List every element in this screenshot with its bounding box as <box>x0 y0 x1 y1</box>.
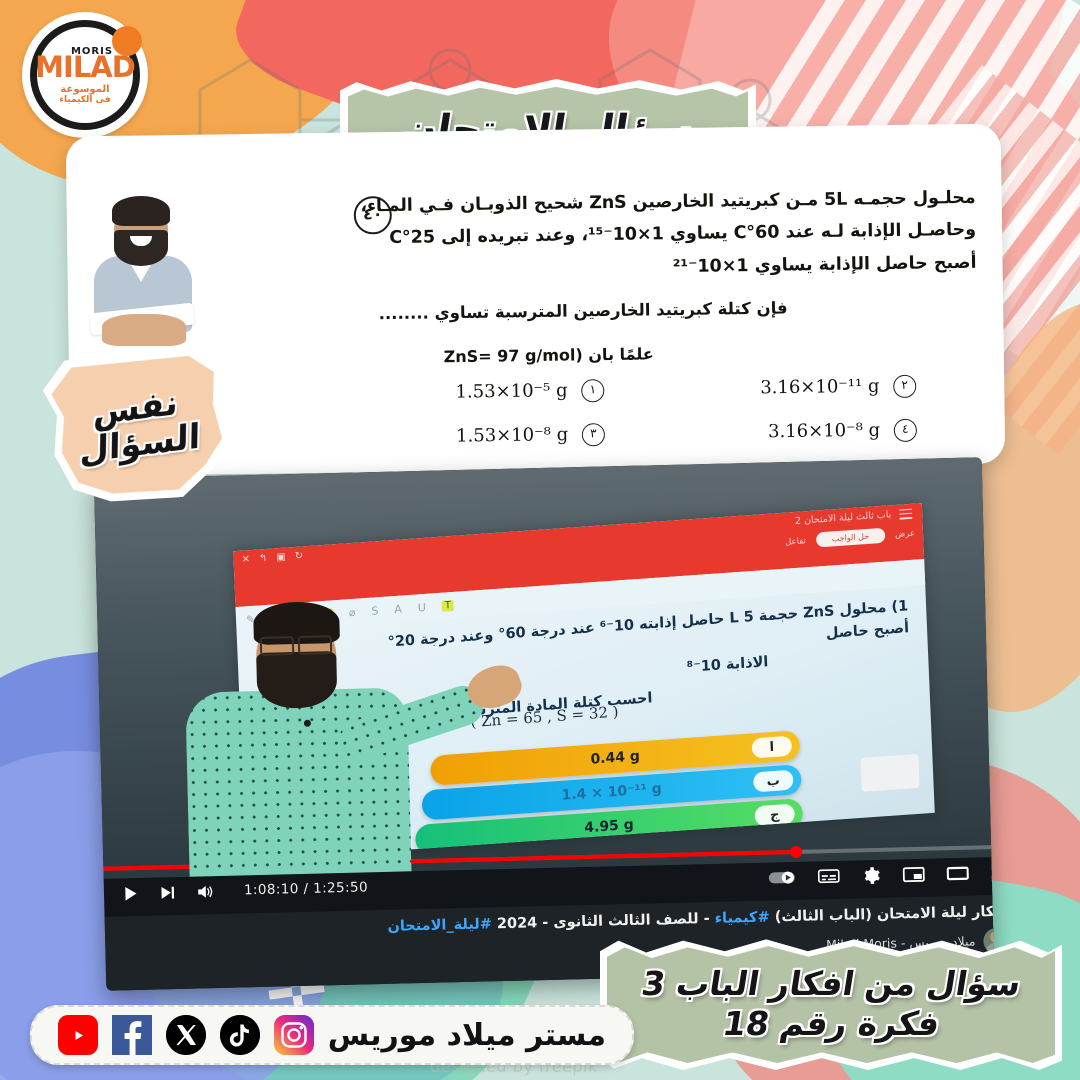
logo-arabic-line-2: فى الكيمياء <box>59 95 110 105</box>
slide-answer-1-mark: ا <box>751 736 792 759</box>
autoplay-toggle-icon[interactable] <box>768 869 796 886</box>
answer-option-1-value: 1.53×10⁻⁵ g <box>455 380 567 403</box>
redo-icon[interactable]: ↻ <box>294 550 303 562</box>
video-title-hashtag-2[interactable]: #ليلة_الامتحان <box>387 916 492 935</box>
video-total-time: 1:25:50 <box>313 879 368 896</box>
close-icon[interactable]: ✕ <box>241 554 250 566</box>
answer-option-3[interactable]: 1.53×10⁻⁸ g ٣ <box>456 423 605 448</box>
highlight-icon[interactable]: T <box>442 599 455 611</box>
bottom-green-banner-inner: سؤال من افكار الباب 3 فكرة رقم 18 <box>607 945 1055 1063</box>
play-icon[interactable] <box>122 884 139 901</box>
answer-option-3-value: 1.53×10⁻⁸ g <box>456 424 568 447</box>
question-prompt: فإن كتلة كبريتيد الخارصين المترسبة تساوي… <box>343 298 823 324</box>
volume-icon[interactable] <box>196 883 214 900</box>
logo-arabic-line-1: الموسوعة <box>60 84 109 95</box>
logo-milad-text: MILAD <box>35 53 135 82</box>
answer-option-2[interactable]: 3.16×10⁻¹¹ g ٢ <box>760 375 916 400</box>
logo-orange-dot-icon <box>112 26 142 56</box>
next-track-icon[interactable] <box>159 884 176 901</box>
slide-answer-3-value: 4.95 g <box>584 817 634 836</box>
slide-answer-1-value: 0.44 g <box>590 748 640 767</box>
slide-tab-row: عرض حل الواجب تفاعل <box>785 526 916 550</box>
video-controls-left: 1:08:10 / 1:25:50 <box>122 879 368 902</box>
teacher-hand <box>102 314 186 346</box>
teacher-eye-right <box>149 220 160 225</box>
x-icon[interactable] <box>166 1015 206 1055</box>
theater-mode-icon[interactable] <box>947 864 969 882</box>
tiktok-icon[interactable] <box>220 1015 260 1055</box>
instagram-icon[interactable] <box>274 1015 314 1055</box>
bottom-green-banner: سؤال من افكار الباب 3 فكرة رقم 18 <box>600 938 1062 1070</box>
video-timestamp: 1:08:10 / 1:25:50 <box>244 879 368 898</box>
question-text: محلـول حجمـه 5L مـن كبريتيد الخارصين ZnS… <box>350 182 976 288</box>
video-title-part-2: - للصف الثالث الثانوى - 2024 <box>497 911 710 932</box>
teacher-hair <box>112 196 170 226</box>
answer-option-4-value: 3.16×10⁻⁸ g <box>768 420 880 443</box>
slide-header-title: باب ثالث ليلة الامتحان 2 <box>795 509 892 527</box>
answer-option-4[interactable]: 3.16×10⁻⁸ g ٤ <box>768 419 917 444</box>
answer-option-4-mark: ٤ <box>894 419 917 442</box>
miniplayer-icon[interactable] <box>903 865 925 883</box>
video-presenter <box>183 593 420 879</box>
answer-option-3-mark: ٣ <box>582 423 605 446</box>
hamburger-menu-icon[interactable] <box>899 508 912 519</box>
video-title-part-1: افكار ليلة الامتحان (الباب الثالث) <box>775 904 995 926</box>
slide-answer-2-mark: ب <box>753 770 794 793</box>
youtube-icon[interactable] <box>58 1015 98 1055</box>
slide-tab-view[interactable]: عرض <box>895 528 915 539</box>
social-bar: مستر ميلاد موريس <box>30 1005 634 1065</box>
teacher-photo <box>84 196 202 346</box>
answer-option-1-mark: ١ <box>581 379 604 402</box>
facebook-icon[interactable] <box>112 1015 152 1055</box>
teacher-eye-left <box>124 220 135 225</box>
brand-logo: MORIS MILAD الموسوعة فى الكيمياء <box>22 12 148 138</box>
slide-header-row: باب ثالث ليلة الامتحان 2 <box>795 508 913 527</box>
video-frame: باب ثالث ليلة الامتحان 2 ✕ ↰ ▣ ↻ عرض حل … <box>94 457 992 879</box>
settings-gear-icon[interactable] <box>862 865 881 884</box>
slide-header-icons: ✕ ↰ ▣ ↻ <box>241 550 303 565</box>
underline-icon[interactable]: U <box>418 600 427 614</box>
answer-option-1[interactable]: 1.53×10⁻⁵ g ١ <box>455 379 604 404</box>
video-title-hashtag-1[interactable]: #كيمياء <box>714 910 769 927</box>
slide-tab-active[interactable]: حل الواجب <box>816 528 886 548</box>
slide-corner-stamp <box>860 754 919 792</box>
slide-tab-interact[interactable]: تفاعل <box>785 536 806 547</box>
crop-icon[interactable]: ▣ <box>276 552 286 564</box>
green-banner-line-1: سؤال من افكار الباب 3 <box>639 964 1024 1004</box>
answer-option-2-value: 3.16×10⁻¹¹ g <box>760 376 880 399</box>
poster-root: ✛ designed by freepik MORIS MILAD الموسو… <box>0 0 1080 1080</box>
green-banner-line-2: فكرة رقم 18 <box>720 1004 943 1044</box>
undo-icon[interactable]: ↰ <box>259 553 268 565</box>
video-player-screenshot: باب ثالث ليلة الامتحان 2 ✕ ↰ ▣ ↻ عرض حل … <box>94 457 994 991</box>
presenter-glasses-icon <box>258 635 334 652</box>
slide-question-line-2: الاذابة 10⁻⁸ <box>686 654 768 676</box>
slide-answer-2-value: 1.4 × 10⁻¹¹ g <box>561 781 662 804</box>
video-controls-right <box>768 862 995 887</box>
question-note: علمًا بان (ZnS= 97 g/mol <box>444 344 654 366</box>
subtitles-icon[interactable] <box>818 868 840 885</box>
social-account-name: مستر ميلاد موريس <box>328 1018 606 1053</box>
slide-answer-3-mark: ج <box>754 804 795 827</box>
video-current-time: 1:08:10 <box>244 881 299 898</box>
answer-option-2-mark: ٢ <box>893 375 916 398</box>
